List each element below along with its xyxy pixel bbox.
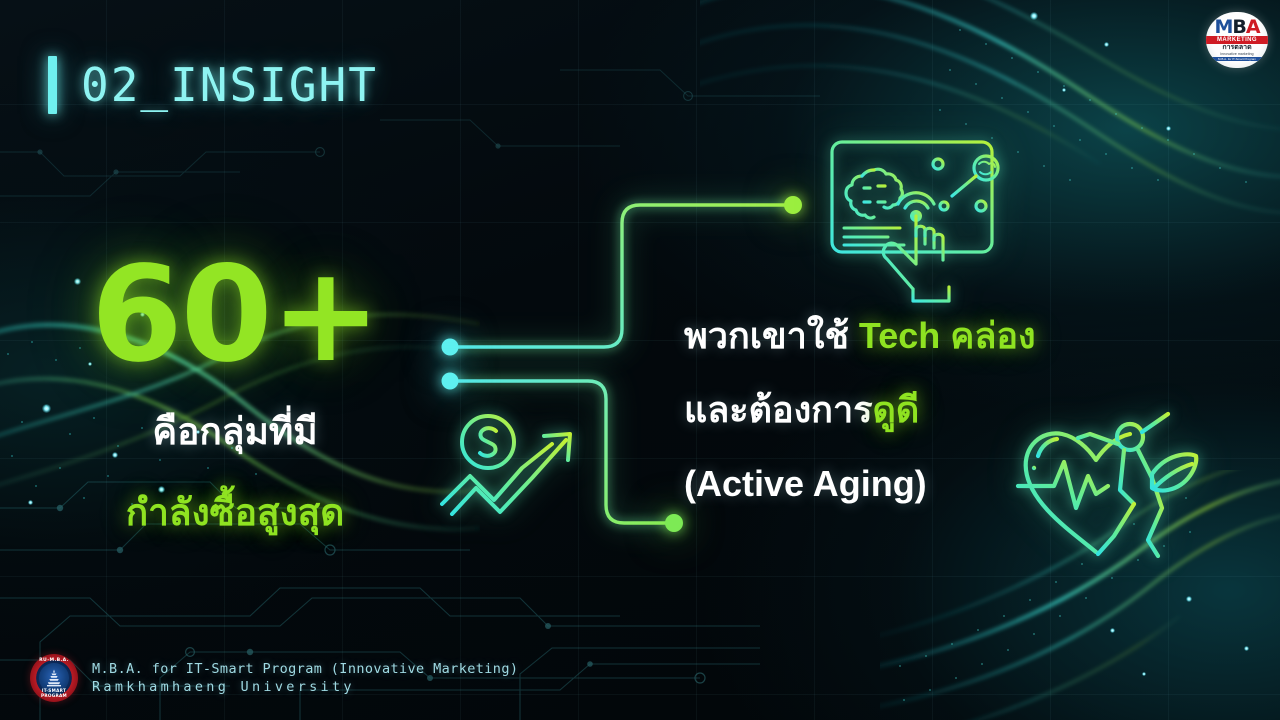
glow-dot: [1186, 596, 1192, 602]
mba-logo-band: MARKETING: [1206, 36, 1268, 44]
insight-line-2-highlight: ดูดี: [873, 389, 920, 430]
mba-marketing-logo: MBA MARKETING การตลาด Innovative marketi…: [1206, 12, 1268, 68]
growth-chart-dollar-icon: [432, 404, 604, 564]
left-stat-block: 60+ คือกลุ่มที่มี กำลังซื้อสูงสุด: [0, 256, 470, 542]
insight-line-1-highlight: Tech คล่อง: [859, 315, 1036, 356]
ru-mba-it-smart-seal: RU-M.B.A. IT-SMART PROGRAM: [30, 654, 78, 702]
glow-dot: [1062, 88, 1066, 92]
page-title: 02_INSIGHT: [81, 58, 378, 112]
glow-dot: [1030, 12, 1038, 20]
mba-logo-wordmark: MBA: [1214, 19, 1259, 36]
seal-top-text: RU-M.B.A.: [30, 658, 78, 663]
glow-dot: [1166, 126, 1171, 131]
footer-text-group: M.B.A. for IT-Smart Program (Innovative …: [92, 660, 518, 696]
footer: RU-M.B.A. IT-SMART PROGRAM M.B.A. for IT…: [30, 654, 518, 702]
mba-letter-m: M: [1214, 16, 1232, 38]
footer-university-line: Ramkhamhaeng University: [92, 678, 518, 696]
seal-pagoda-glyph: [44, 668, 64, 688]
glow-dot: [1110, 628, 1115, 633]
insight-line-1-plain: พวกเขาใช้: [684, 315, 859, 356]
glow-dot: [1142, 672, 1146, 676]
mba-letter-b: B: [1232, 16, 1245, 38]
glow-dot: [1244, 646, 1249, 651]
footer-program-line: M.B.A. for IT-Smart Program (Innovative …: [92, 660, 518, 678]
insight-line-1: พวกเขาใช้ Tech คล่อง: [684, 318, 1154, 354]
mba-letter-a: A: [1246, 16, 1260, 38]
seal-bottom-text: IT-SMART PROGRAM: [30, 688, 78, 698]
slide-title-group: 02_INSIGHT: [48, 56, 378, 114]
active-aging-heart-icon: [1002, 404, 1202, 576]
stat-value-60-plus: 60+: [0, 256, 470, 374]
brain-touchscreen-icon: [806, 124, 1016, 314]
title-accent-bar: [48, 56, 57, 114]
insight-line-2-plain: และต้องการ: [684, 389, 873, 430]
slide-canvas: 02_INSIGHT MBA MARKETING การตลาด Innovat…: [0, 0, 1280, 720]
glow-dot: [1104, 42, 1109, 47]
stat-caption-line-2: กำลังซื้อสูงสุด: [0, 483, 470, 542]
mba-logo-thai: การตลาด: [1222, 44, 1251, 52]
stat-caption-line-1: คือกลุ่มที่มี: [0, 402, 470, 461]
